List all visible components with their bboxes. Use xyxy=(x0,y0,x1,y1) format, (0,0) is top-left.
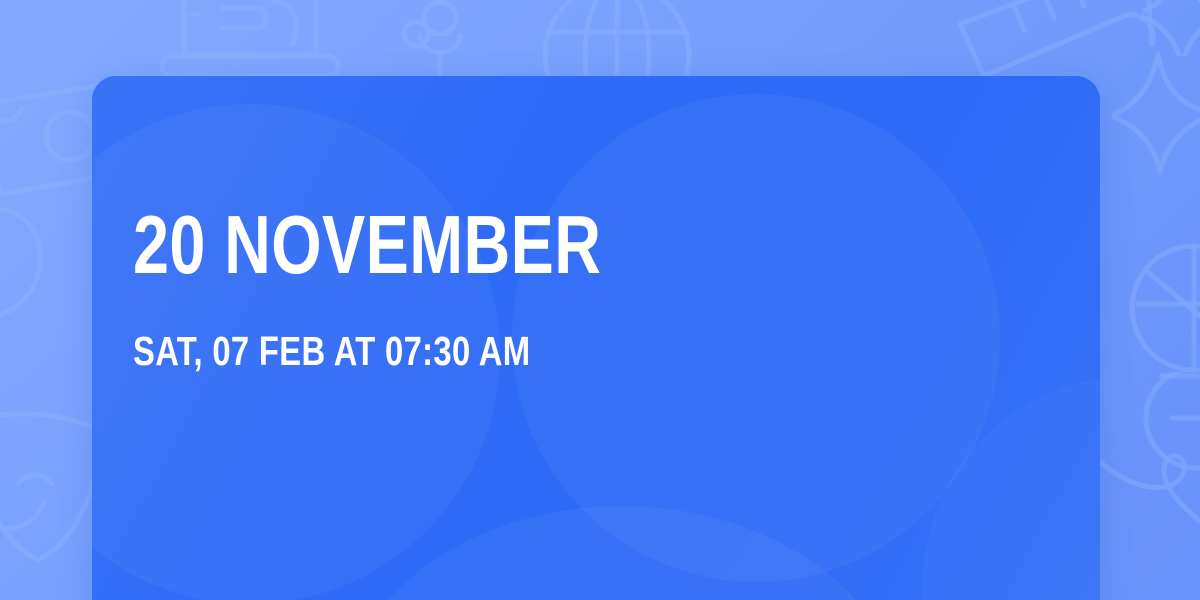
sparkle-icon xyxy=(1142,0,1200,56)
sparkle-icon xyxy=(1112,46,1200,176)
basket-icon xyxy=(1124,228,1200,408)
event-datetime: SAT, 07 FEB AT 07:30 AM xyxy=(133,331,613,372)
balloon-icon xyxy=(0,196,100,366)
event-banner: 20 NOVEMBER SAT, 07 FEB AT 07:30 AM xyxy=(0,0,1200,600)
confetti-swirl-icon xyxy=(1088,436,1200,600)
arrow-circle-icon xyxy=(1136,372,1200,492)
event-card[interactable]: 20 NOVEMBER SAT, 07 FEB AT 07:30 AM xyxy=(92,76,1100,600)
dot-icon xyxy=(396,14,436,54)
event-text-block: 20 NOVEMBER SAT, 07 FEB AT 07:30 AM xyxy=(133,204,733,372)
event-title: 20 NOVEMBER xyxy=(133,204,601,285)
